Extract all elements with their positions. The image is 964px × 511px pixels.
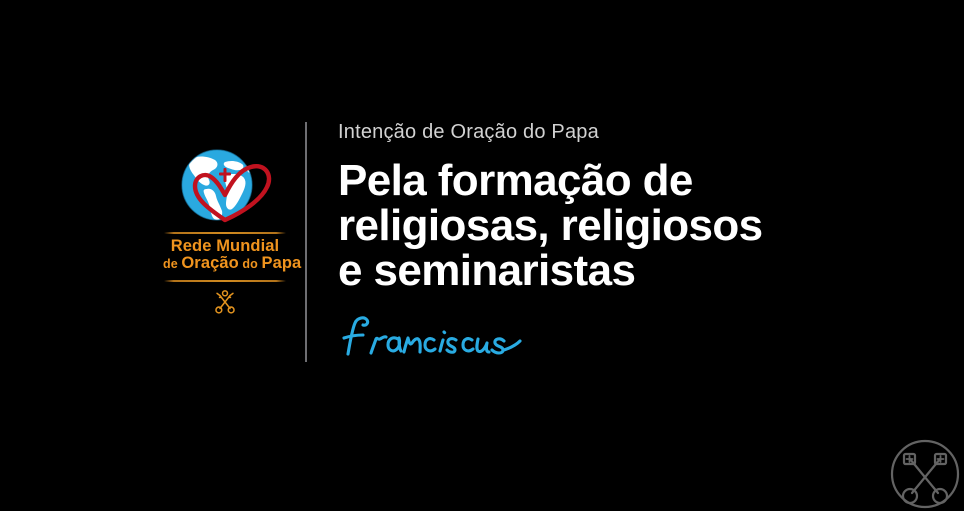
logo-wordmark: Rede Mundial de Oração do Papa	[163, 234, 287, 276]
headline-line-1: Pela formação de	[338, 159, 938, 204]
vertical-divider	[305, 122, 307, 362]
page-title: Pela formação de religiosas, religiosos …	[338, 159, 938, 294]
globe-heart-emblem	[163, 143, 287, 227]
logo-title-line-1: Rede Mundial	[163, 238, 287, 255]
logo-title-line-2: de Oração do Papa	[163, 255, 287, 272]
slide-canvas: Rede Mundial de Oração do Papa	[0, 0, 964, 482]
globe-heart-icon	[163, 143, 287, 227]
papal-keys-emblem-icon	[210, 289, 240, 315]
eyebrow-label: Intenção de Oração do Papa	[338, 120, 938, 144]
logo-title-oracao: Oração	[181, 254, 238, 272]
logo-title-de: de	[163, 257, 181, 271]
content-column: Intenção de Oração do Papa Pela formação…	[338, 120, 938, 367]
headline-line-2: religiosas, religiosos	[338, 204, 938, 249]
logo-rule-bottom	[164, 280, 286, 282]
vatican-keys-watermark-icon	[888, 437, 962, 511]
logo-title-do: do	[239, 257, 262, 271]
logo-title-papa: Papa	[261, 254, 301, 272]
franciscus-signature: Franciscus	[338, 312, 528, 362]
prayer-network-logo: Rede Mundial de Oração do Papa	[163, 143, 287, 320]
headline-line-3: e seminaristas	[338, 249, 938, 294]
